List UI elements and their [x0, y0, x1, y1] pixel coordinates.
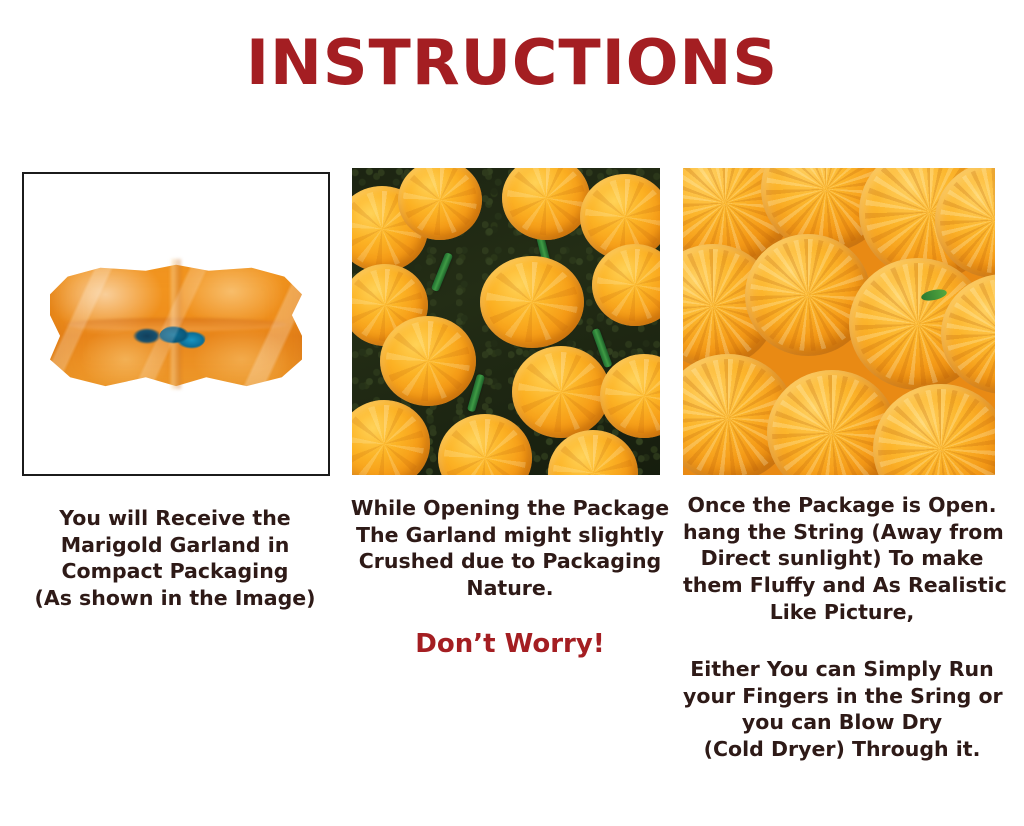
caption-crushed-garland: While Opening the Package The Garland mi…: [345, 495, 675, 602]
caption-fluffy-garland: Once the Package is Open. hang the Strin…: [683, 492, 1001, 625]
marigold-flower: [480, 256, 584, 348]
caption-line: you can Blow Dry: [683, 709, 1001, 736]
dont-worry-highlight: Don’t Worry!: [345, 629, 675, 659]
marigold-flower: [380, 316, 476, 406]
caption-line: Marigold Garland in: [10, 532, 340, 559]
panel-crushed-garland-image: [352, 168, 660, 475]
caption-line: (Cold Dryer) Through it.: [683, 736, 1001, 763]
caption-compact-packaging: You will Receive the Marigold Garland in…: [10, 505, 340, 612]
caption-line: Nature.: [345, 575, 675, 602]
bag-blue-tie-icon: [159, 324, 205, 350]
caption-line: The Garland might slightly: [345, 522, 675, 549]
caption-line: your Fingers in the Sring or: [683, 683, 1001, 710]
caption-line: Compact Packaging: [10, 558, 340, 585]
panel-compact-packaging-image: [22, 172, 330, 476]
page-title: INSTRUCTIONS: [0, 30, 1024, 95]
caption-line: hang the String (Away from: [683, 519, 1001, 546]
caption-line: You will Receive the: [10, 505, 340, 532]
caption-line: Once the Package is Open.: [683, 492, 1001, 519]
caption-line: Crushed due to Packaging: [345, 548, 675, 575]
caption-line: While Opening the Package: [345, 495, 675, 522]
caption-line: (As shown in the Image): [10, 585, 340, 612]
caption-line: them Fluffy and As Realistic: [683, 572, 1001, 599]
packaged-bag-illustration: [50, 250, 302, 398]
caption-line: Like Picture,: [683, 599, 1001, 626]
caption-fluffy-garland-secondary: Either You can Simply Run your Fingers i…: [683, 656, 1001, 763]
caption-line: Direct sunlight) To make: [683, 545, 1001, 572]
panel-fluffy-garland-image: [683, 168, 995, 475]
caption-line: Either You can Simply Run: [683, 656, 1001, 683]
marigold-pompom: [873, 384, 995, 475]
marigold-flower: [512, 346, 610, 438]
